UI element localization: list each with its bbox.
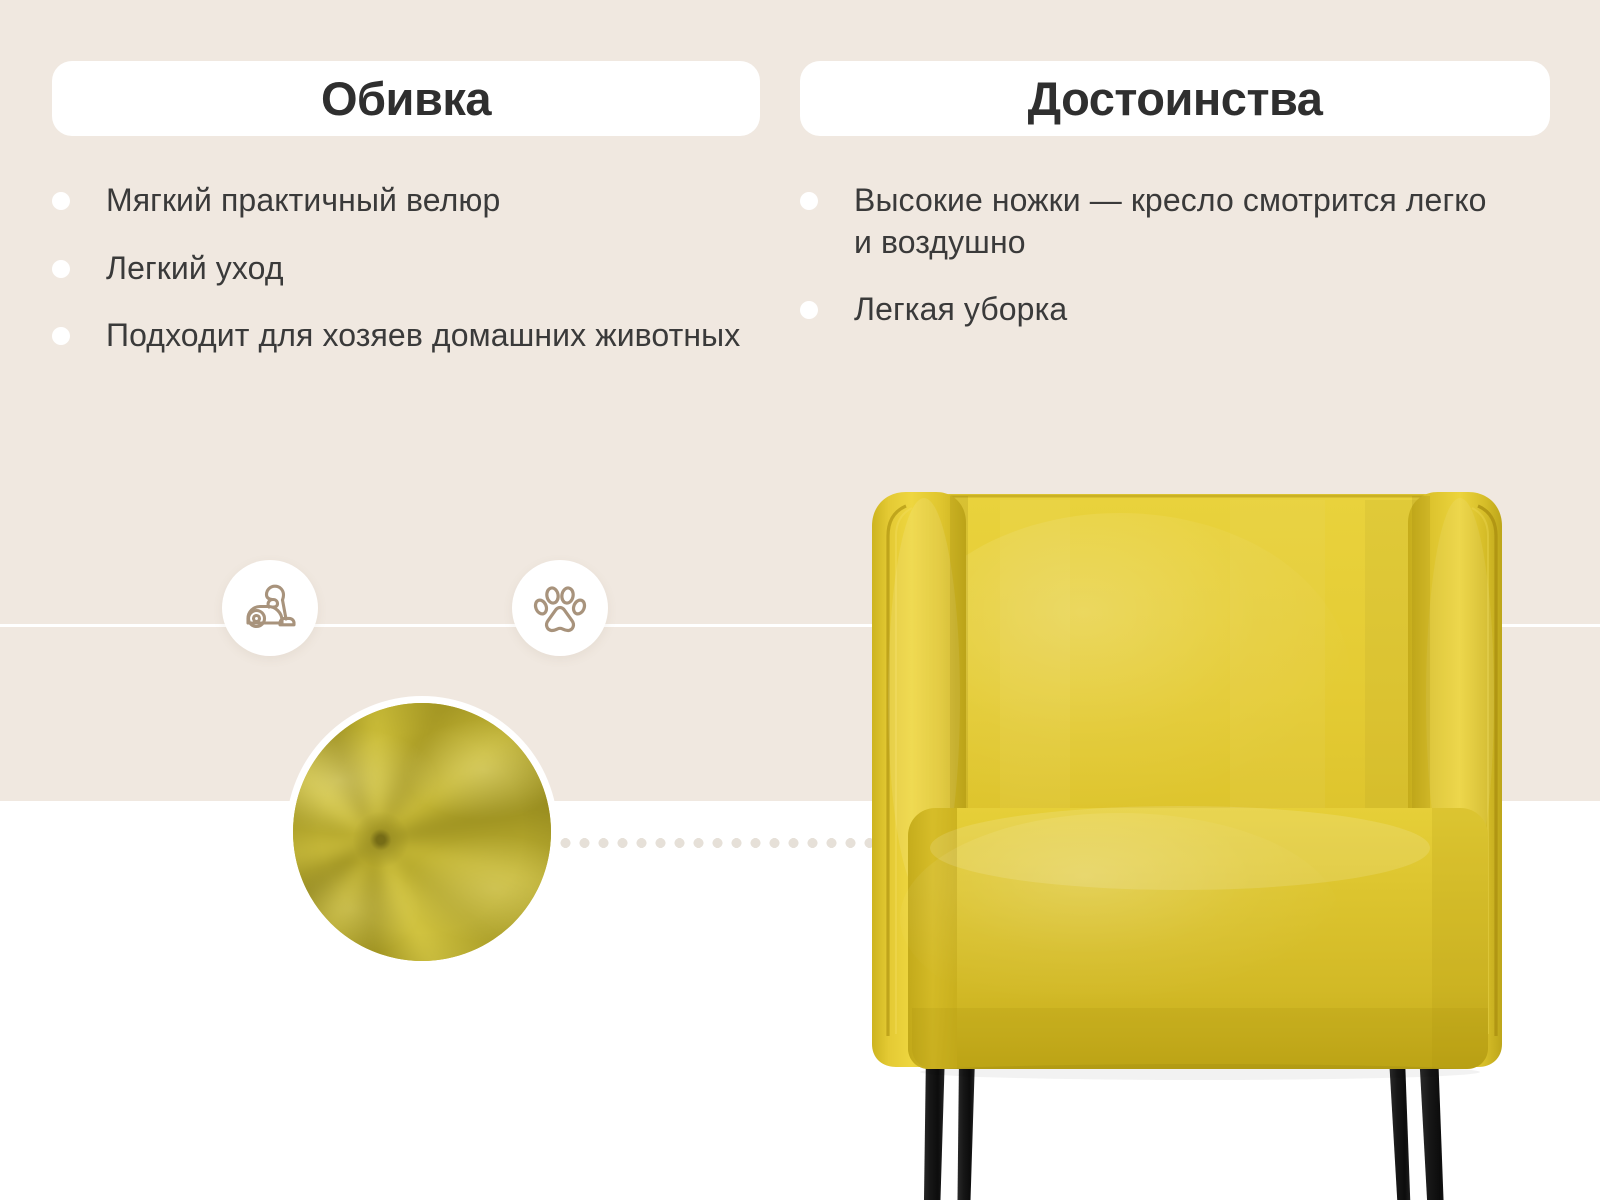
list-item-label: Легкий уход bbox=[106, 248, 284, 290]
bullet-dot-icon bbox=[52, 260, 70, 278]
section-header-advantages: Достоинства bbox=[800, 61, 1550, 136]
infographic-canvas: Обивка Мягкий практичный велюр Легкий ух… bbox=[0, 0, 1600, 1200]
list-item-label: Легкая уборка bbox=[854, 289, 1067, 331]
list-item: Подходит для хозяев домашних животных bbox=[52, 315, 782, 357]
section-title-advantages: Достоинства bbox=[1028, 75, 1323, 122]
section-header-upholstery: Обивка bbox=[52, 61, 760, 136]
fabric-swatch bbox=[286, 696, 558, 968]
vacuum-cleaner-icon bbox=[239, 577, 301, 639]
list-item: Мягкий практичный велюр bbox=[52, 180, 782, 222]
section-title-upholstery: Обивка bbox=[321, 75, 491, 122]
list-item: Легкий уход bbox=[52, 248, 782, 290]
list-item-label: Подходит для хозяев домашних животных bbox=[106, 315, 740, 357]
chair-seat-cushion bbox=[900, 806, 1488, 1069]
bullet-dot-icon bbox=[800, 192, 818, 210]
bullet-list-upholstery: Мягкий практичный велюр Легкий уход Подх… bbox=[52, 180, 782, 383]
paw-print-icon bbox=[530, 578, 590, 638]
armchair-product-image bbox=[820, 448, 1580, 1200]
bullet-dot-icon bbox=[52, 327, 70, 345]
list-item-label: Мягкий практичный велюр bbox=[106, 180, 500, 222]
badge-paw-print bbox=[512, 560, 608, 656]
fabric-swatch-image bbox=[293, 703, 551, 961]
bullet-list-advantages: Высокие ножки — кресло смотрится легко и… bbox=[800, 180, 1490, 357]
badge-vacuum-cleaner bbox=[222, 560, 318, 656]
bullet-dot-icon bbox=[800, 301, 818, 319]
bullet-dot-icon bbox=[52, 192, 70, 210]
list-item: Высокие ножки — кресло смотрится легко и… bbox=[800, 180, 1490, 263]
list-item: Легкая уборка bbox=[800, 289, 1490, 331]
list-item-label: Высокие ножки — кресло смотрится легко и… bbox=[854, 180, 1490, 263]
